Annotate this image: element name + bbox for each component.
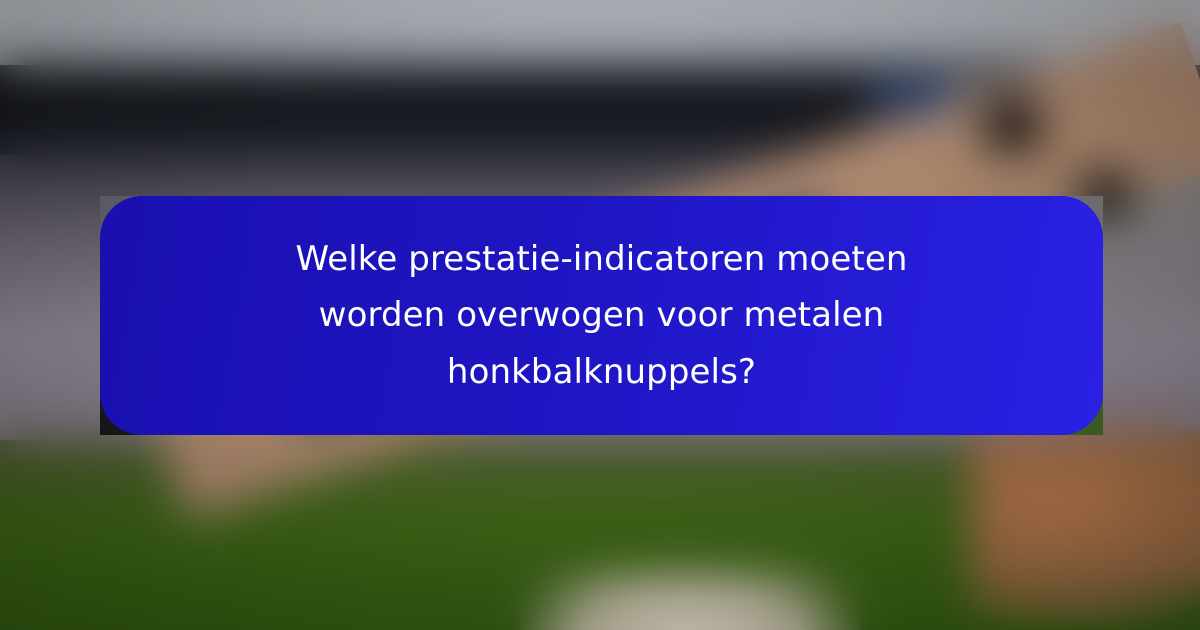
corner-notch-top-left — [100, 196, 142, 238]
headline-banner: Welke prestatie-indicatoren moeten worde… — [100, 196, 1103, 435]
corner-notch-bottom-left — [100, 393, 142, 435]
corner-notch-top-right — [1061, 196, 1103, 238]
corner-notch-bottom-right — [1061, 393, 1103, 435]
top-right-dot-cluster — [976, 0, 1200, 122]
banner-card-stage: Welke prestatie-indicatoren moeten worde… — [0, 0, 1200, 630]
headline-text: Welke prestatie-indicatoren moeten worde… — [222, 231, 982, 399]
bottom-left-dot-cluster — [0, 508, 224, 630]
